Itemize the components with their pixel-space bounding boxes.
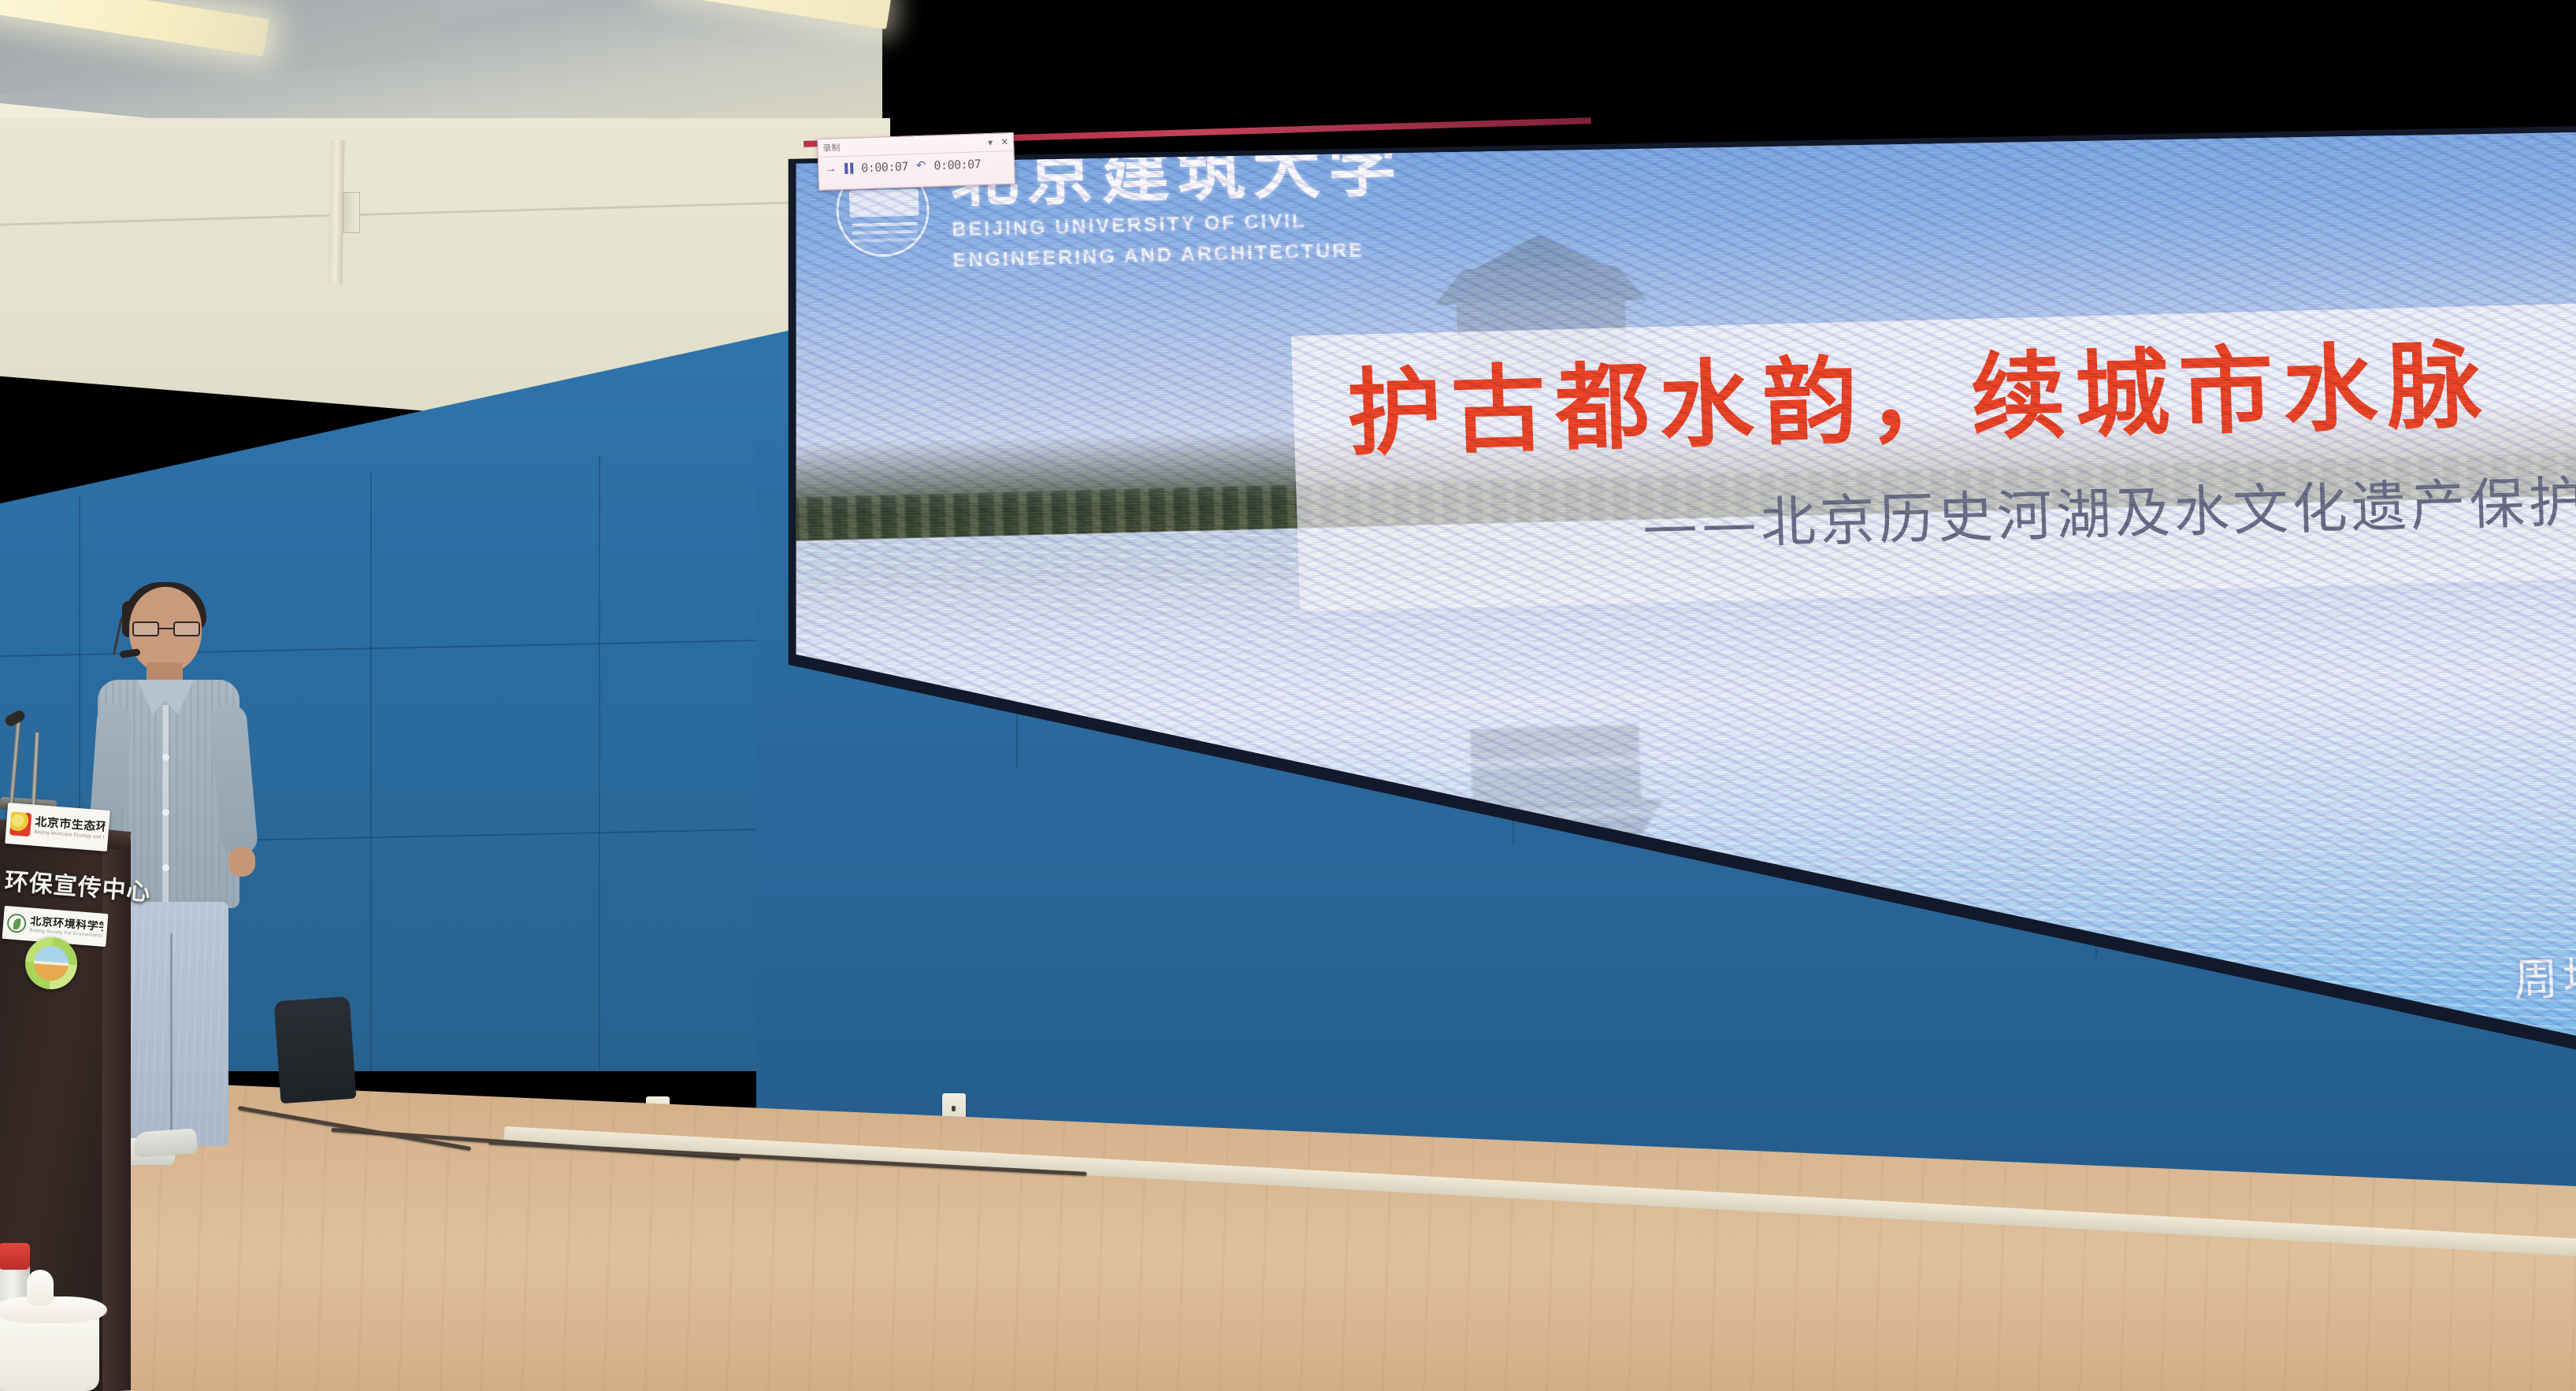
podium-sign-top: 北京市生态环境局团委 Beijing Municipal Ecology and… [5,803,110,851]
shirt-button [162,864,169,871]
shirt-button [162,754,169,761]
restart-arrow-icon[interactable]: ↶ [916,160,926,172]
close-icon[interactable]: ✕ [1000,136,1009,147]
slide-author: 周坤朋 20 [2513,939,2576,1008]
presenter-shoe [133,1128,198,1158]
teacup-lid [0,1296,107,1323]
podium-sign-main: 环保宣传中心 [3,856,113,910]
chevron-down-icon[interactable]: ▾ [988,137,993,148]
presenter-hand [228,847,255,877]
shirt-placket [162,705,169,902]
panel-seam [599,455,600,1070]
arrow-right-icon[interactable]: → [825,162,837,174]
timer-total: 0:00:07 [934,157,981,172]
youth-league-emblem-icon [9,811,32,836]
outlet-slot [952,1106,956,1111]
fluorescent-light-icon [653,0,892,29]
glasses-icon [132,621,200,637]
conference-room-scene: 北京建筑大学 BEIJING UNIVERSITY OF CIVIL ENGIN… [0,0,2576,1391]
teacup-knob [27,1270,54,1306]
shirt-button [162,809,169,816]
green-leaf-circle-icon [6,913,27,933]
headset-boom [113,617,123,655]
timer-elapsed: 0:00:07 [861,159,908,175]
timer-label: 录制 [822,141,841,154]
pause-icon[interactable] [844,162,853,173]
equipment-bag [274,996,357,1104]
bottle-cap [0,1243,30,1270]
wall-junction-box [343,192,360,233]
university-name-cn: 北京建筑大学 [949,132,1405,211]
presentation-recording-timer[interactable]: 录制 ▾ ✕ → 0:00:07 ↶ 0:00:07 [817,132,1015,191]
panel-seam [370,473,372,1071]
